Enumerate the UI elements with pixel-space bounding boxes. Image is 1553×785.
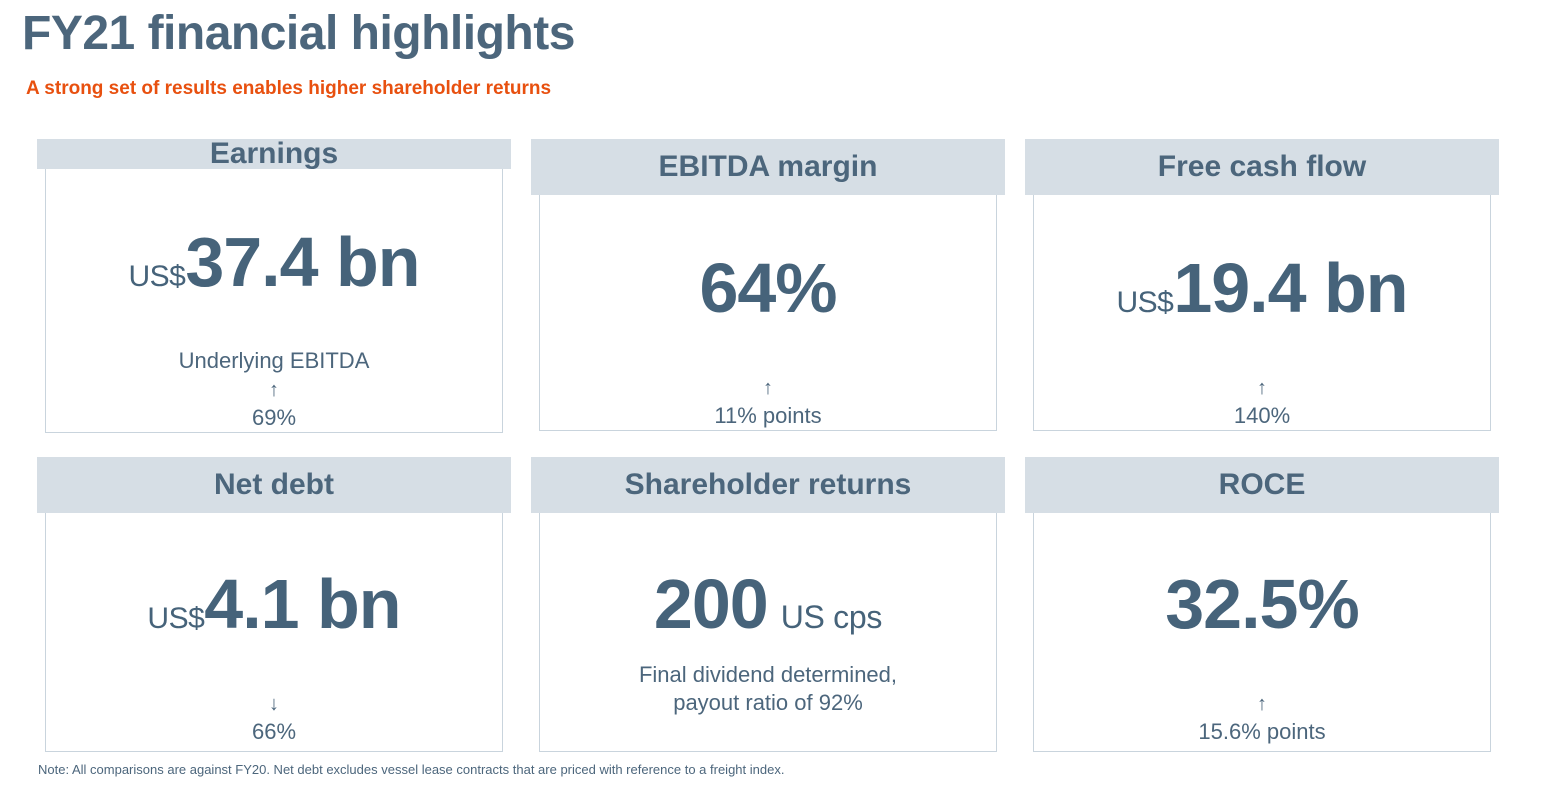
card-title: EBITDA margin — [659, 152, 878, 182]
metric-card-earnings: Earnings US$ 37.4 bn Underlying EBITDA ↑… — [37, 139, 511, 431]
metric-card-roce: ROCE 32.5% ↑ 15.6% points — [1025, 457, 1499, 752]
arrow-down-icon: ↓ — [269, 693, 279, 715]
card-body-ebitda-margin: 64% ↑ 11% points — [539, 195, 997, 431]
metric-figure: US$ 19.4 bn — [1116, 253, 1407, 323]
arrow-up-icon: ↑ — [763, 377, 773, 399]
card-body-free-cash-flow: US$ 19.4 bn ↑ 140% — [1033, 195, 1491, 431]
metric-card-ebitda-margin: EBITDA margin 64% ↑ 11% points — [531, 139, 1005, 431]
metric-change: 140% — [1234, 403, 1290, 428]
card-body-net-debt: US$ 4.1 bn ↓ 66% — [45, 513, 503, 752]
metric-figure: 200 US cps — [654, 569, 882, 639]
metric-value: 19.4 bn — [1173, 253, 1407, 323]
metric-value: 4.1 bn — [204, 569, 400, 639]
metric-figure: 64% — [699, 253, 836, 323]
card-body-roce: 32.5% ↑ 15.6% points — [1033, 513, 1491, 752]
metric-currency-prefix: US$ — [147, 604, 204, 634]
card-title: Earnings — [210, 139, 338, 169]
arrow-up-icon: ↑ — [269, 379, 279, 401]
card-header-earnings: Earnings — [37, 139, 511, 169]
metric-subtext: ↑ 15.6% points — [1198, 661, 1325, 746]
metric-currency-prefix: US$ — [128, 262, 185, 292]
metric-value: 200 — [654, 569, 768, 639]
metric-card-net-debt: Net debt US$ 4.1 bn ↓ 66% — [37, 457, 511, 752]
arrow-up-icon: ↑ — [1257, 693, 1267, 715]
page-title: FY21 financial highlights — [22, 6, 575, 61]
metric-subtext: ↑ 11% points — [714, 345, 821, 430]
card-title: ROCE — [1219, 470, 1306, 500]
metric-subtext: Underlying EBITDA ↑ 69% — [179, 319, 370, 432]
card-title: Free cash flow — [1158, 152, 1366, 182]
metric-currency-prefix: US$ — [1116, 288, 1173, 318]
metric-value: 32.5% — [1165, 569, 1358, 639]
card-header-free-cash-flow: Free cash flow — [1025, 139, 1499, 195]
financial-highlights-slide: FY21 financial highlights A strong set o… — [0, 0, 1553, 785]
metric-subtext-label: Underlying EBITDA — [179, 348, 370, 373]
card-header-ebitda-margin: EBITDA margin — [531, 139, 1005, 195]
card-header-roce: ROCE — [1025, 457, 1499, 513]
page-subtitle: A strong set of results enables higher s… — [26, 78, 551, 100]
metric-figure: US$ 4.1 bn — [147, 569, 400, 639]
metric-subtext: Final dividend determined, payout ratio … — [639, 661, 897, 717]
card-title: Net debt — [214, 470, 334, 500]
metric-subtext: ↓ 66% — [252, 661, 296, 746]
metric-card-grid: Earnings US$ 37.4 bn Underlying EBITDA ↑… — [37, 139, 1501, 752]
card-title: Shareholder returns — [625, 470, 912, 500]
arrow-up-icon: ↑ — [1257, 377, 1267, 399]
metric-change: 69% — [252, 405, 296, 430]
metric-subtext: ↑ 140% — [1234, 345, 1290, 430]
card-header-net-debt: Net debt — [37, 457, 511, 513]
metric-figure: 32.5% — [1165, 569, 1358, 639]
metric-change: 15.6% points — [1198, 719, 1325, 744]
metric-change: 11% points — [714, 403, 821, 428]
metric-value: 64% — [699, 253, 836, 323]
metric-unit-suffix: US cps — [781, 601, 882, 633]
card-body-shareholder-returns: 200 US cps Final dividend determined, pa… — [539, 513, 997, 752]
card-body-earnings: US$ 37.4 bn Underlying EBITDA ↑ 69% — [45, 169, 503, 433]
card-header-shareholder-returns: Shareholder returns — [531, 457, 1005, 513]
metric-card-free-cash-flow: Free cash flow US$ 19.4 bn ↑ 140% — [1025, 139, 1499, 431]
metric-card-shareholder-returns: Shareholder returns 200 US cps Final div… — [531, 457, 1005, 752]
footnote: Note: All comparisons are against FY20. … — [38, 762, 784, 777]
metric-value: 37.4 bn — [185, 227, 419, 297]
metric-change: 66% — [252, 719, 296, 744]
metric-figure: US$ 37.4 bn — [128, 227, 419, 297]
